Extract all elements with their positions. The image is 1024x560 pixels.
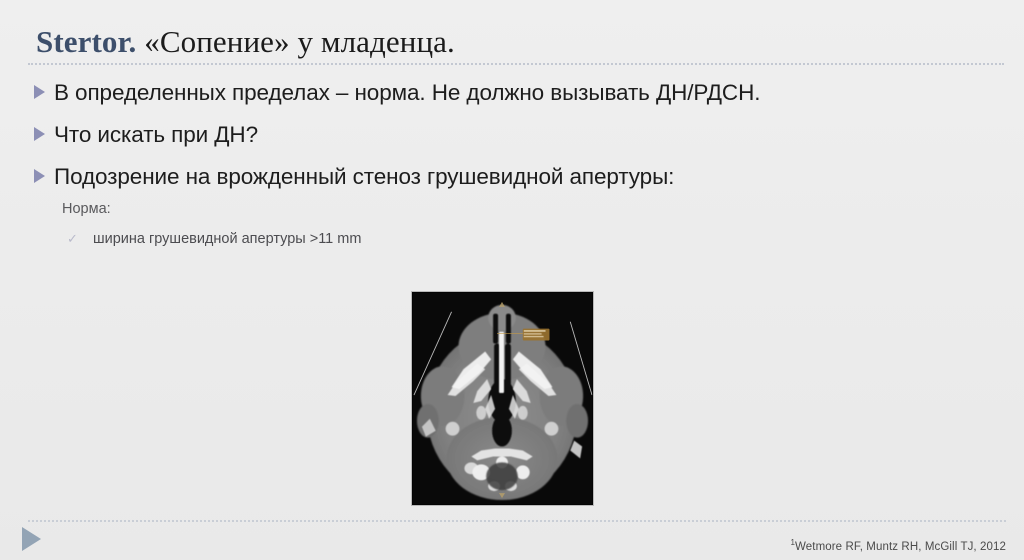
bullet-item-2-label: Что искать при ДН? xyxy=(54,118,258,152)
slide-title: Stertor. «Сопение» у младенца. xyxy=(36,16,986,60)
slide-title-text: Stertor. «Сопение» у младенца. xyxy=(36,24,455,60)
sub-list-item-1-label: ширина грушевидной апертуры >11 mm xyxy=(93,229,361,249)
ct-measurement-annotation xyxy=(523,329,550,341)
next-slide-button[interactable] xyxy=(22,527,48,553)
ct-scan-image xyxy=(411,291,594,506)
bullet-item-1-label: В определенных пределах – норма. Не долж… xyxy=(54,76,760,110)
bullet-list: В определенных пределах – норма. Не долж… xyxy=(30,76,980,202)
sub-list: Норма: ✓ ширина грушевидной апертуры >11… xyxy=(62,198,762,249)
footnote-text: Wetmore RF, Muntz RH, McGill TJ, 2012 xyxy=(795,541,1006,553)
title-divider xyxy=(28,63,1004,65)
bullet-item-3-label: Подозрение на врожденный стеноз грушевид… xyxy=(54,160,674,194)
ct-scan-graphic xyxy=(412,292,593,505)
presentation-slide: Stertor. «Сопение» у младенца. В определ… xyxy=(0,0,1024,560)
triangle-right-icon xyxy=(22,527,41,551)
bullet-item-2: Что искать при ДН? xyxy=(30,118,980,152)
triangle-right-icon xyxy=(30,118,54,141)
sub-list-item-1: ✓ ширина грушевидной апертуры >11 mm xyxy=(66,229,762,249)
triangle-right-icon xyxy=(30,76,54,99)
slide-title-rest: «Сопение» у младенца. xyxy=(136,24,454,59)
bullet-item-1: В определенных пределах – норма. Не долж… xyxy=(30,76,980,110)
slide-title-lead: Stertor. xyxy=(36,24,136,59)
sub-list-heading: Норма: xyxy=(62,198,762,220)
footer-divider xyxy=(28,520,1006,522)
triangle-right-icon xyxy=(30,160,54,183)
check-icon: ✓ xyxy=(66,229,93,249)
bullet-item-3: Подозрение на врожденный стеноз грушевид… xyxy=(30,160,980,194)
footnote: 1Wetmore RF, Muntz RH, McGill TJ, 2012 xyxy=(790,536,1006,554)
